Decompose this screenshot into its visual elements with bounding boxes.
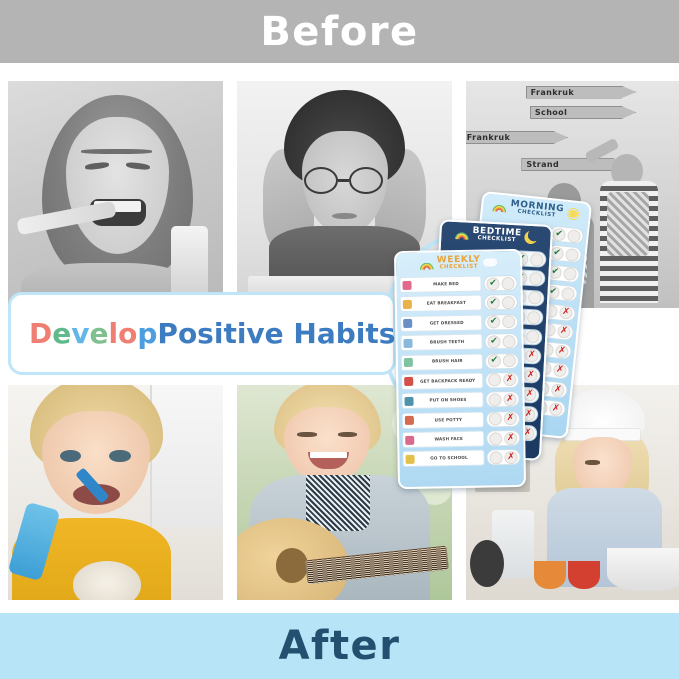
cat-print-shape [73,561,142,600]
cloud-icon [483,258,497,266]
guitar-soundhole-shape [276,548,308,582]
card-bedtime-title: BEDTIME CHECKLIST [472,227,522,244]
signpost-0: Frankruk [526,86,637,99]
mark-empty[interactable] [567,229,581,243]
task-label: MAKE BED [413,282,478,288]
headline-letter-5: o [118,317,137,350]
task-label: BRUSH HAIR [415,359,480,365]
card-weekly-rows: MAKE BED✔EAT BREAKFAST✔GET DRESSED✔BRUSH… [396,273,523,469]
task-label: GO TO SCHOOL [417,456,482,462]
mark-check[interactable]: ✔ [552,227,566,241]
before-banner: Before [0,0,679,63]
glasses-bridge [338,179,349,182]
signpost-1: School [530,106,637,119]
face-shape [284,407,370,484]
hairbrush-icon [404,358,413,367]
task-label: GET DRESSED [414,320,479,326]
mark-check[interactable]: ✔ [488,354,501,367]
mark-cross[interactable]: ✗ [503,373,516,386]
mark-empty[interactable] [529,272,543,286]
mark-pill: ✔ [484,294,518,311]
mark-empty[interactable] [489,451,502,464]
card-weekly-header: WEEKLY CHECKLIST [396,251,520,275]
rainbow-icon [419,258,434,269]
task-chip[interactable]: GET DRESSED [400,314,482,331]
mark-pill: ✔ [547,245,582,264]
mark-empty[interactable] [489,412,502,425]
mark-pill: ✗ [485,391,519,408]
headline-letter-4: l [109,317,119,350]
product-comparison-image: Before [0,0,679,679]
headline-letter-0: D [29,317,52,350]
checklist-row: GET BACKPACK READY✗ [401,371,519,391]
mark-cross[interactable]: ✗ [559,306,573,320]
card-title-line2: CHECKLIST [472,236,522,244]
headline-letter-6: p [137,317,157,350]
mark-empty[interactable] [489,432,502,445]
task-label: PUT ON SHOES [416,398,481,404]
before-banner-label: Before [260,9,418,55]
after-banner-label: After [279,623,401,669]
signpost-2: Frankruk [466,131,568,144]
card-title-line2: CHECKLIST [437,264,481,270]
mark-cross[interactable]: ✗ [549,402,563,416]
mark-pill: ✗ [486,449,520,466]
moon-icon [524,230,538,244]
headline-text: DevelopPositive Habits [29,317,395,350]
headline-letter-2: v [71,317,89,350]
potty-icon [405,416,414,425]
checklist-row: BRUSH HAIR✔ [401,351,519,371]
cupcake-liner-red [568,561,600,589]
mark-pill: ✔ [484,333,518,350]
mark-pill: ✔ [549,225,584,244]
mark-check[interactable]: ✔ [487,335,500,348]
mark-empty[interactable] [527,311,541,325]
task-chip[interactable]: GO TO SCHOOL [402,450,484,467]
task-chip[interactable]: WASH FACE [402,431,484,448]
schoolbus-icon [405,455,414,464]
mark-pill: ✗ [486,430,520,447]
task-label: GET BACKPACK READY [415,378,480,384]
headline-word-positive-habits: Positive Habits [157,317,395,350]
mark-cross[interactable]: ✗ [525,349,539,363]
mark-empty[interactable] [526,330,540,344]
mark-cross[interactable]: ✗ [557,325,571,339]
task-chip[interactable]: PUT ON SHOES [401,392,483,409]
mark-empty[interactable] [488,374,501,387]
rainbow-icon [492,200,508,213]
clothes-icon [403,319,412,328]
mark-pill: ✗ [486,411,520,428]
mark-pill: ✔ [485,353,519,370]
headline-letter-3: e [90,317,109,350]
photo-boy-brushing-teeth-happy [8,385,223,600]
checklist-row: PUT ON SHOES✗ [401,390,519,410]
mark-empty[interactable] [530,253,544,267]
checklist-row: WASH FACE✗ [402,429,520,449]
mark-empty[interactable] [528,291,542,305]
mark-cross[interactable]: ✗ [504,451,517,464]
checklist-row: USE POTTY✗ [402,410,520,430]
mark-empty[interactable] [561,286,575,300]
after-banner: After [0,613,679,679]
task-chip[interactable]: BRUSH HAIR [401,353,483,370]
mark-cross[interactable]: ✗ [551,383,565,397]
checklist-row: GO TO SCHOOL✗ [402,448,520,468]
mark-cross[interactable]: ✗ [504,412,517,425]
mark-empty[interactable] [502,335,515,348]
task-chip[interactable]: MAKE BED [399,276,481,293]
mark-empty[interactable] [503,354,516,367]
mark-empty[interactable] [502,296,515,309]
mark-pill: ✔ [483,275,517,292]
backpack-icon [404,377,413,386]
checklist-row: MAKE BED✔ [399,274,517,294]
headline-word-develop: Develop [29,317,157,350]
mark-empty[interactable] [565,248,579,262]
mark-empty[interactable] [501,277,514,290]
mark-empty[interactable] [502,315,515,328]
pan-shape [470,540,504,587]
task-chip[interactable]: GET BACKPACK READY [401,373,483,390]
task-chip[interactable]: USE POTTY [402,411,484,428]
mark-check[interactable]: ✔ [550,246,564,260]
card-weekly-title: WEEKLY CHECKLIST [437,255,481,270]
mark-empty[interactable] [488,393,501,406]
soap-icon [405,435,414,444]
wall-shape [150,385,223,527]
toothbrush-icon [403,339,412,348]
task-label: WASH FACE [416,437,481,443]
mark-cross[interactable]: ✗ [555,344,569,358]
card-morning-title: MORNING CHECKLIST [510,200,565,220]
mark-check[interactable]: ✔ [486,277,499,290]
mark-pill: ✗ [485,372,519,389]
checklist-row: EAT BREAKFAST✔ [400,293,518,313]
mark-cross[interactable]: ✗ [524,369,538,383]
card-weekly-checklist[interactable]: WEEKLY CHECKLIST MAKE BED✔EAT BREAKFAST✔… [394,249,526,489]
sun-icon [566,206,580,220]
task-label: EAT BREAKFAST [414,301,479,307]
mark-check[interactable]: ✔ [487,316,500,329]
checklist-cards-group: MORNING CHECKLIST ✔✔✔✔✗✗✗✗✗✗ BEDTIME CHE… [396,196,596,456]
mixing-bowl-shape [607,548,679,591]
checklist-row: GET DRESSED✔ [400,313,518,333]
mark-cross[interactable]: ✗ [553,364,567,378]
mark-empty[interactable] [563,267,577,281]
mark-cross[interactable]: ✗ [504,432,517,445]
task-chip[interactable]: BRUSH TEETH [400,334,482,351]
brow-shape [81,149,152,154]
breakfast-icon [403,300,412,309]
task-chip[interactable]: EAT BREAKFAST [400,295,482,312]
mark-cross[interactable]: ✗ [523,388,537,402]
headline-banner: DevelopPositive Habits [8,292,396,375]
eye-shape [585,460,600,465]
mark-check[interactable]: ✔ [487,296,500,309]
rainbow-icon [454,227,470,239]
child-b-backpack-shape [607,192,650,256]
task-label: USE POTTY [416,417,481,423]
mark-cross[interactable]: ✗ [503,393,516,406]
task-label: BRUSH TEETH [415,340,480,346]
shoes-icon [404,397,413,406]
headline-letter-1: e [52,317,71,350]
bed-icon [402,280,411,289]
eye-right-shape [109,450,131,463]
checklist-row: BRUSH TEETH✔ [400,332,518,352]
mark-pill: ✔ [484,314,518,331]
cupcake-liner-orange [534,561,566,589]
teeth-shape [310,452,347,458]
photo-girl-crying-brushing-teeth [8,81,223,308]
